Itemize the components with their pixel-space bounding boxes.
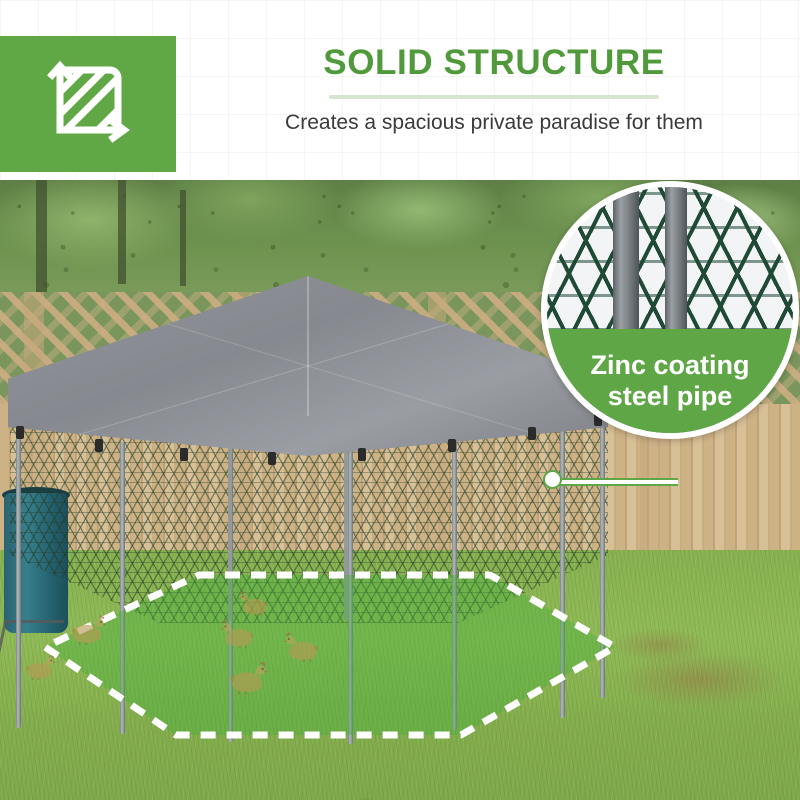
chicken [282, 629, 322, 662]
area-dimension-icon [42, 56, 134, 152]
chicken [219, 617, 257, 649]
callout-label-band: Zinc coating steel pipe [547, 329, 793, 433]
header-banner: SOLID STRUCTURE Creates a spacious priva… [0, 0, 800, 180]
title-divider [329, 95, 659, 99]
chicken [226, 658, 270, 695]
canopy-clip [180, 448, 188, 461]
canopy-clip [16, 426, 24, 439]
header-text-block: SOLID STRUCTURE Creates a spacious priva… [196, 44, 792, 136]
chicken [237, 588, 271, 616]
chicken [68, 612, 108, 645]
callout-leader-line [556, 478, 678, 486]
chicken [23, 652, 57, 680]
area-size-unit-exponent: 2 [359, 796, 373, 800]
canopy-clip [95, 439, 103, 452]
canopy-clip [448, 439, 456, 452]
callout-anchor-dot [543, 470, 562, 489]
area-dimension-icon-box [0, 36, 176, 172]
canopy-clip [358, 448, 366, 461]
page-subtitle: Creates a spacious private paradise for … [196, 110, 792, 136]
callout-label-line-1: Zinc coating [590, 350, 749, 381]
steel-post [16, 430, 21, 728]
canopy-seams [8, 276, 608, 456]
canopy-clip [268, 452, 276, 465]
floor-area-outline [45, 575, 615, 735]
zinc-coating-callout: Zinc coating steel pipe [541, 181, 799, 439]
canopy-clip [528, 427, 536, 440]
page-title: SOLID STRUCTURE [196, 44, 792, 82]
callout-label-line-2: steel pipe [608, 381, 733, 412]
